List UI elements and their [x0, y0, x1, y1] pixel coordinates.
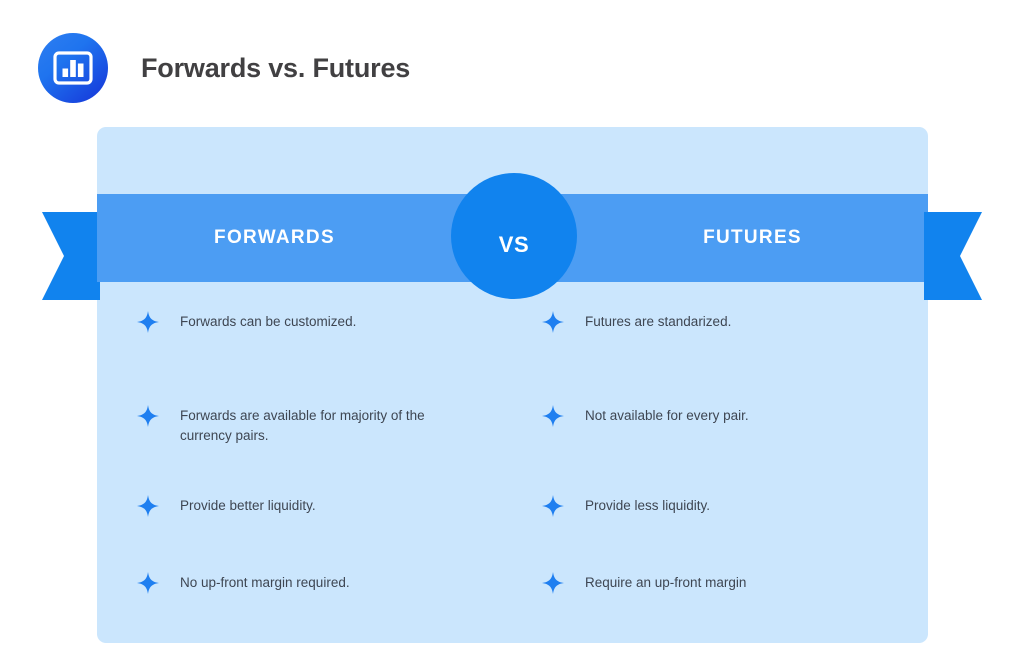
- list-item: Require an up-front margin: [541, 573, 916, 595]
- sparkle-icon: [541, 571, 565, 595]
- list-item-text: Forwards are available for majority of t…: [180, 406, 480, 446]
- list-item-text: No up-front margin required.: [180, 573, 350, 593]
- sparkle-icon: [136, 571, 160, 595]
- list-item: Provide less liquidity.: [541, 496, 916, 518]
- sparkle-icon: [136, 310, 160, 334]
- list-item-text: Provide less liquidity.: [585, 496, 710, 516]
- list-item: Futures are standarized.: [541, 312, 916, 334]
- list-item-text: Not available for every pair.: [585, 406, 749, 426]
- list-item-text: Provide better liquidity.: [180, 496, 316, 516]
- list-item: Provide better liquidity.: [136, 496, 511, 518]
- ribbon-tail-right-icon: [924, 212, 982, 300]
- ribbon-tail-left-icon: [42, 212, 100, 300]
- page-title: Forwards vs. Futures: [141, 53, 410, 84]
- sparkle-icon: [136, 404, 160, 428]
- sparkle-icon: [136, 494, 160, 518]
- bar-chart-icon: [53, 51, 93, 85]
- list-item: Forwards can be customized.: [136, 312, 511, 334]
- list-item: Not available for every pair.: [541, 406, 916, 428]
- sparkle-icon: [541, 494, 565, 518]
- list-item-text: Require an up-front margin: [585, 573, 746, 593]
- infographic-page: Forwards vs. Futures FORWARDS FUTURES VS: [0, 0, 1024, 667]
- list-item: No up-front margin required.: [136, 573, 511, 595]
- list-item-text: Forwards can be customized.: [180, 312, 356, 332]
- logo-badge: [38, 33, 108, 103]
- sparkle-icon: [541, 404, 565, 428]
- sparkle-icon: [541, 310, 565, 334]
- list-item: Forwards are available for majority of t…: [136, 406, 511, 446]
- list-item-text: Futures are standarized.: [585, 312, 731, 332]
- comparison-panel: [97, 127, 928, 643]
- page-header: Forwards vs. Futures: [38, 32, 638, 104]
